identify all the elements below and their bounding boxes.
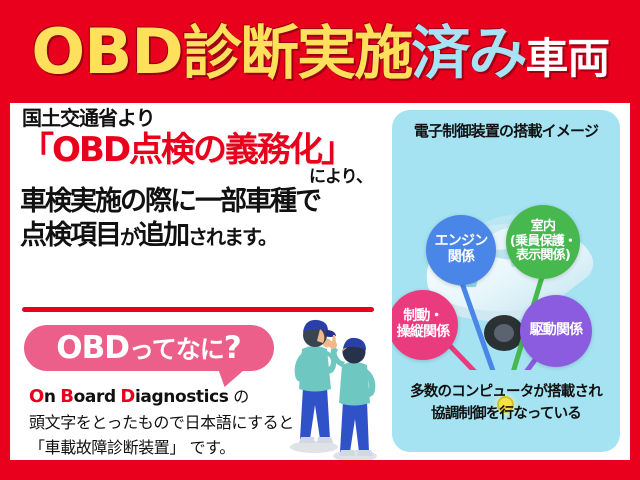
obd-explainer: OBDってなに? On Board Diagnostics の 頭文字をとったも… — [24, 325, 294, 460]
node-drive-label: 駆動関係 — [530, 323, 583, 339]
header-obd-text: OBD — [31, 15, 182, 88]
mechanics-illustration — [282, 311, 382, 460]
header-white-text: 車両 — [525, 34, 609, 83]
notice-line-5-b: が — [120, 225, 138, 249]
notice-line-4: 車検実施の際に一部車種で — [20, 187, 378, 218]
obd-desc-cap-o: O — [29, 386, 44, 407]
obd-description: On Board Diagnostics の 頭文字をとったもので日本語にすると… — [24, 383, 294, 460]
diagram-caption-line-2: 協調制御を行なっている — [392, 404, 620, 426]
obd-speech-bubble: OBDってなに? — [24, 325, 274, 371]
diagram-card: 電子制御装置の搭載イメージ — [392, 110, 620, 452]
header-cyan-text: 済み — [411, 19, 525, 87]
obd-desc-iagnostics: iagnostics — [135, 387, 229, 407]
obd-desc-tail: の — [233, 387, 249, 406]
header-title: OBD診断実施済み車両 — [31, 21, 609, 83]
obd-desc-oard: oard — [74, 387, 116, 407]
obd-bubble-text: OBDってなに? — [56, 333, 241, 364]
mechanics-svg — [282, 311, 382, 460]
person-right — [329, 335, 375, 456]
node-cabin-label: 室内(乗員保護・表示関係) — [510, 220, 576, 264]
notice-line-3: により、 — [20, 168, 372, 187]
notice-line-5-c: 追加 — [138, 220, 188, 251]
left-column: 国土交通省より 「OBD点検の義務化」 により、 車検実施の際に一部車種で 点検… — [10, 103, 382, 460]
header-banner: OBD診断実施済み車両 — [0, 0, 640, 103]
obd-desc-cap-d: D — [120, 386, 135, 407]
right-column: 電子制御装置の搭載イメージ — [388, 103, 630, 460]
obd-desc-line-2: 頭文字をとったもので日本語にすると — [29, 411, 294, 436]
node-cabin[interactable]: 室内(乗員保護・表示関係) — [506, 205, 580, 279]
person-left — [295, 320, 336, 443]
notice-line-5: 点検項目が追加されます。 — [20, 220, 378, 251]
diagram-caption: 多数のコンピュータが搭載され 協調制御を行なっている — [392, 382, 620, 426]
obd-desc-n: n — [44, 387, 56, 407]
node-drive[interactable]: 駆動関係 — [520, 295, 592, 367]
obd-desc-cap-b: B — [60, 386, 73, 407]
node-engine-label: エンジン関係 — [435, 234, 488, 265]
notice-line-2-highlight: 「OBD点検の義務化」 — [20, 132, 378, 169]
notice-line-1: 国土交通省より — [22, 107, 378, 131]
car-diagram: エンジン関係 室内(乗員保護・表示関係) 制動・操縦関係 駆動関係 — [392, 155, 620, 370]
obd-bubble-jp: ってなに — [129, 335, 224, 364]
diagram-title: 電子制御装置の搭載イメージ — [392, 120, 620, 141]
obd-bubble-question: ? — [224, 330, 242, 366]
obd-bubble-obd: OBD — [56, 330, 129, 366]
header-jp-text: 診断実施 — [182, 19, 410, 87]
notice-line-5-a: 点検項目 — [20, 220, 120, 251]
node-engine[interactable]: エンジン関係 — [426, 215, 496, 285]
content-panel: 国土交通省より 「OBD点検の義務化」 により、 車検実施の際に一部車種で 点検… — [10, 103, 630, 460]
obd-desc-line-3: 「車載故障診断装置」 です。 — [29, 436, 294, 461]
diagram-caption-line-1: 多数のコンピュータが搭載され — [392, 382, 620, 404]
obd-desc-line-1: On Board Diagnostics の — [29, 383, 294, 411]
poster-root: OBD診断実施済み車両 国土交通省より 「OBD点検の義務化」 により、 車検実… — [0, 0, 640, 480]
notice-block: 国土交通省より 「OBD点検の義務化」 により、 車検実施の際に一部車種で 点検… — [20, 107, 378, 251]
notice-line-5-d: されます。 — [188, 225, 276, 249]
node-brake-label: 制動・操縦関係 — [397, 309, 450, 340]
speech-bubble-tail — [215, 367, 248, 387]
